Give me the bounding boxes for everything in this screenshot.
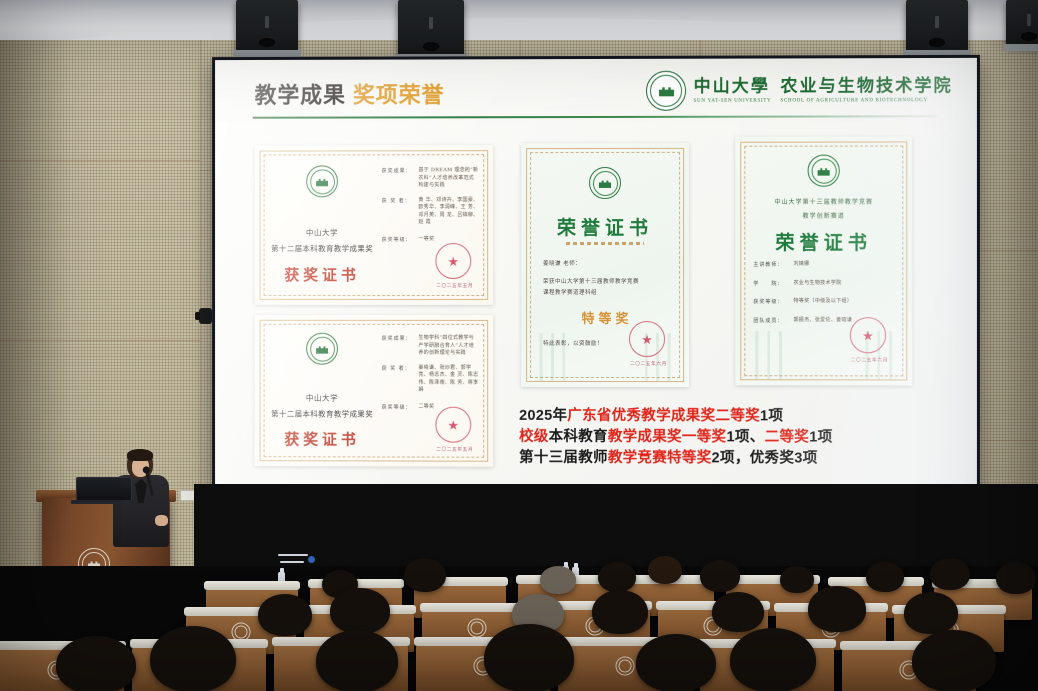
certificate-card: 中山大学 第十二届本科教育教学成果奖 获奖证书 获奖成果： 生物学科“四位式教学…	[255, 315, 494, 467]
audience-head	[598, 562, 636, 592]
cert-org: 中山大学	[271, 392, 374, 403]
cert-field-value: 姜晓谦、张炒君、郭学亮、杨志杰、金 灵、陈志伟、陈泽南、陈 芳、蒋李娟	[418, 364, 479, 394]
cert-field-label: 团队成员：	[753, 317, 789, 325]
cert-field-label: 获奖成果：	[382, 167, 416, 189]
summary-span: 本科教育	[549, 429, 608, 445]
cert-field-label: 获 奖 者：	[382, 364, 416, 394]
logo-university-cn: 中山大學	[694, 78, 772, 95]
cert-org: 中山大学	[271, 227, 374, 238]
projection-screen: 教学成果 奖项荣誉 中山大學 SUN YAT-SEN UNIVERSITY 农业…	[212, 55, 980, 491]
seal-date: 二〇二五年六月	[851, 357, 888, 363]
cert-type: 获奖证书	[271, 428, 374, 449]
title-divider	[253, 115, 937, 118]
summary-span: 广东省优秀教学成果奖二等奖	[567, 408, 760, 424]
cert-field-label: 获奖等级：	[382, 236, 416, 243]
seal-date: 二〇二五年六月	[630, 361, 667, 367]
logo-university-en: SUN YAT-SEN UNIVERSITY	[694, 98, 772, 103]
summary-span: 1项、	[726, 429, 764, 445]
summary-span: 第十三届教师	[519, 450, 608, 466]
summary-text-block: 2025年广东省优秀教学成果奖二等奖1项 校级本科教育教学成果奖一等奖1项、二等…	[519, 406, 832, 470]
summary-span: 1项	[809, 429, 832, 445]
cert-field-value: 刘婧娜	[794, 261, 810, 269]
audience-head	[540, 566, 576, 594]
official-seal: ★	[629, 321, 665, 357]
logo-school-cn: 农业与生物技术学院	[780, 78, 952, 96]
cert-field-value: 基于 DREAM 理念的“新农科”人才培养改革范式构建与实践	[418, 167, 479, 190]
audience-head	[780, 566, 814, 593]
cert-field-value: 特等奖（中级及以下组）	[794, 298, 853, 306]
cert-type: 荣誉证书	[521, 213, 689, 240]
audience-head	[912, 630, 996, 691]
cert-type: 获奖证书	[271, 264, 374, 285]
cert-field-label: 获 奖 者：	[382, 197, 416, 227]
audience-head	[730, 628, 816, 691]
smoke-detector	[680, 12, 690, 19]
audience-head	[592, 590, 648, 634]
university-logo: 中山大學 SUN YAT-SEN UNIVERSITY 农业与生物技术学院 SC…	[646, 70, 952, 111]
cert-body-line: 荣获中山大学第十三届教师教学竞赛	[543, 277, 671, 287]
cert-field-value: 黄 华、邓诗卉、李国豪、欧秀华、李润峰、王 芳、邓月英、周 龙、吕锦柳、赵 霞	[418, 197, 479, 227]
cert-field-value: 二等奖	[418, 403, 434, 411]
official-seal: ★	[435, 243, 471, 279]
title-primary: 教学成果	[255, 83, 346, 108]
cert-field-value: 郭振杰、张爱伦、姜晓谦	[794, 317, 853, 325]
cert-field-label: 获奖等级：	[382, 403, 416, 411]
laptop	[76, 477, 132, 501]
audience-head	[930, 558, 970, 590]
logo-school-en: SCHOOL OF AGRICULTURE AND BIOTECHNOLOGY	[780, 98, 952, 103]
summary-span: 教学竞赛特等奖	[608, 450, 712, 466]
audience-head	[808, 586, 866, 632]
lecture-hall-photo: 教学成果 奖项荣誉 中山大學 SUN YAT-SEN UNIVERSITY 农业…	[0, 0, 1038, 691]
summary-span: 2025年	[519, 408, 567, 424]
cert-field-value: 生物学科“四位式教学与产学研融合育人”人才培养的创新理论与实践	[418, 335, 479, 358]
cert-head-line-2: 教学创新赛道	[735, 211, 912, 220]
cert-field-label: 学 院：	[753, 280, 789, 288]
certificate-card: 荣誉证书 姜晓谦 老师： 荣获中山大学第十三届教师教学竞赛 课程教学赛道理科组 …	[521, 143, 689, 387]
slide-canvas: 教学成果 奖项荣誉 中山大學 SUN YAT-SEN UNIVERSITY 农业…	[215, 58, 977, 488]
certificate-card: 中山大学第十三届教师教学竞赛 教学创新赛道 荣誉证书 主讲教师： 刘婧娜 学 院…	[735, 136, 912, 385]
sysu-emblem-icon	[808, 155, 840, 187]
summary-line: 2025年广东省优秀教学成果奖二等奖1项	[519, 406, 832, 428]
audience-head	[150, 626, 236, 691]
ceiling-speaker-4	[1006, 0, 1038, 46]
audience-head	[56, 636, 136, 691]
cert-body-line: 课程教学赛道理科组	[543, 288, 671, 298]
title-accent: 奖项荣誉	[353, 82, 445, 107]
audience-head	[258, 594, 312, 636]
summary-span: 教学成果奖一等奖	[608, 429, 727, 445]
sysu-emblem-icon	[306, 333, 338, 365]
cert-award-name: 第十二届本科教育教学成果奖	[271, 243, 374, 254]
desk-marker	[308, 556, 315, 563]
audience-head	[996, 562, 1036, 594]
cert-type: 荣誉证书	[735, 228, 912, 255]
ceiling-speaker-2	[398, 0, 464, 56]
audience-head	[648, 556, 682, 584]
sysu-emblem-icon	[589, 167, 621, 199]
ceiling-speaker-1	[236, 0, 298, 52]
cert-award-name: 第十二届本科教育教学成果奖	[271, 408, 374, 419]
sysu-emblem-icon	[306, 165, 338, 197]
certificate-card: 中山大学 第十二届本科教育教学成果奖 获奖证书 获奖成果： 基于 DREAM 理…	[255, 145, 494, 305]
cert-salutation: 姜晓谦 老师：	[543, 259, 671, 269]
official-seal: ★	[850, 317, 886, 353]
cert-field-label: 获奖成果：	[382, 335, 416, 357]
page-title: 教学成果 奖项荣誉	[255, 77, 445, 109]
audience-head	[330, 588, 390, 634]
audience-head	[316, 630, 398, 691]
cert-field-value: 一等奖	[418, 236, 434, 243]
audience-head	[904, 592, 958, 634]
sysu-emblem-icon	[646, 71, 686, 111]
cert-field-label: 获奖等级：	[753, 298, 789, 306]
summary-span: 二等奖	[765, 429, 810, 445]
cert-head-line-1: 中山大学第十三届教师教学竞赛	[735, 197, 912, 206]
audience-head	[700, 560, 740, 592]
cert-field-label: 主讲教师：	[753, 261, 789, 269]
summary-line: 校级本科教育教学成果奖一等奖1项、二等奖1项	[519, 427, 832, 449]
desk-item	[278, 554, 308, 556]
ceiling-speaker-3	[906, 0, 968, 52]
summary-line: 第十三届教师教学竞赛特等奖2项，优秀奖3项	[519, 448, 832, 470]
cert-title-underline	[566, 242, 644, 245]
wall-camera	[199, 308, 212, 324]
audience-head	[636, 634, 716, 691]
desk-item	[280, 561, 304, 563]
summary-span: 2项，优秀奖3项	[712, 450, 818, 466]
seal-date: 二〇二五年五月	[436, 447, 473, 453]
audience-head	[404, 558, 446, 592]
audience-head	[484, 624, 574, 691]
summary-span: 校级	[519, 429, 549, 445]
cert-field-value: 农业与生物技术学院	[794, 280, 842, 288]
audience-head	[712, 592, 764, 632]
seal-date: 二〇二五年五月	[436, 283, 473, 289]
summary-span: 1项	[760, 408, 783, 424]
audience-head	[866, 562, 904, 592]
official-seal: ★	[435, 407, 471, 443]
